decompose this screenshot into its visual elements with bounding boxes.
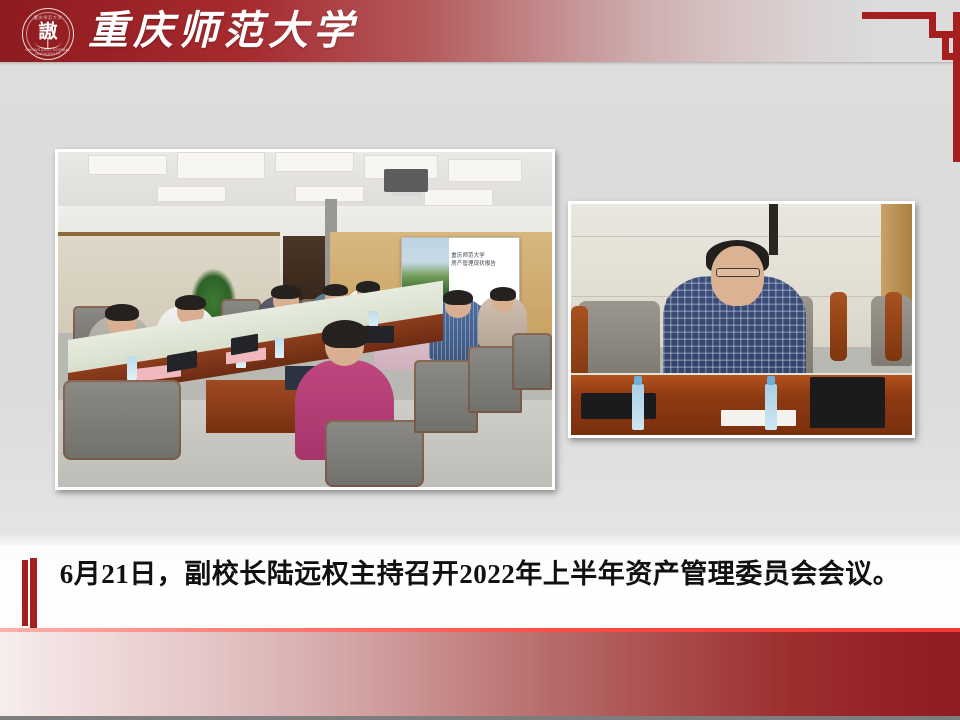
ceiling-light xyxy=(177,152,266,179)
ceiling-light xyxy=(88,155,167,175)
footer-bottom-edge xyxy=(0,716,960,720)
foreground-attendee-hair xyxy=(322,320,368,348)
header-shadow xyxy=(0,62,960,65)
chair-armrest xyxy=(885,292,902,361)
attendee-hair xyxy=(443,290,473,305)
attendee-hair xyxy=(323,284,348,296)
ceiling-projector xyxy=(384,169,428,192)
chair-armrest xyxy=(830,292,847,361)
university-seal-icon: 重庆师范大学 謸 CHONGQING NORMAL UNIVERSITY xyxy=(22,8,74,60)
projection-screen-line2: 房产管理现状报告 xyxy=(451,261,515,269)
conference-chair xyxy=(578,301,660,375)
tablet-device xyxy=(581,393,656,418)
water-bottle xyxy=(632,384,644,430)
caption-text: 6月21日，副校长陆远权主持召开2022年上半年资产管理委员会会议。 xyxy=(0,552,960,591)
slide-canvas: 重庆师范大学 謸 CHONGQING NORMAL UNIVERSITY 重庆师… xyxy=(0,0,960,720)
speaker-closeup-photo xyxy=(568,201,915,438)
projection-screen-line1: 重庆师范大学 xyxy=(451,253,515,261)
footer-banner xyxy=(0,632,960,718)
ceiling-light xyxy=(424,189,493,206)
water-bottle xyxy=(127,356,137,379)
attendee-hair xyxy=(271,285,301,299)
speaker-glasses xyxy=(716,268,760,277)
tablet-device xyxy=(364,326,394,343)
university-name-title: 重庆师范大学 xyxy=(88,4,358,58)
document-paper xyxy=(721,410,796,426)
seal-arc-top-text: 重庆师范大学 xyxy=(22,15,74,21)
attendee-hair xyxy=(105,304,139,321)
fret-corner-ornament-top-right xyxy=(862,12,960,162)
attendee-hair xyxy=(175,295,207,310)
seal-arc-bottom-text: CHONGQING NORMAL UNIVERSITY xyxy=(22,48,74,56)
water-bottle xyxy=(765,384,777,430)
foreground-chair xyxy=(63,380,182,460)
meeting-room-wide-photo: 重庆师范大学 房产管理现状报告 xyxy=(55,149,555,490)
ceiling-light xyxy=(275,152,354,172)
tablet-device xyxy=(810,377,885,428)
water-bottle xyxy=(275,338,284,358)
ceiling-light xyxy=(448,159,522,182)
foreground-chair xyxy=(325,420,424,487)
conference-chair xyxy=(512,333,552,390)
attendee-hair xyxy=(490,287,517,300)
ceiling-light xyxy=(157,186,226,203)
